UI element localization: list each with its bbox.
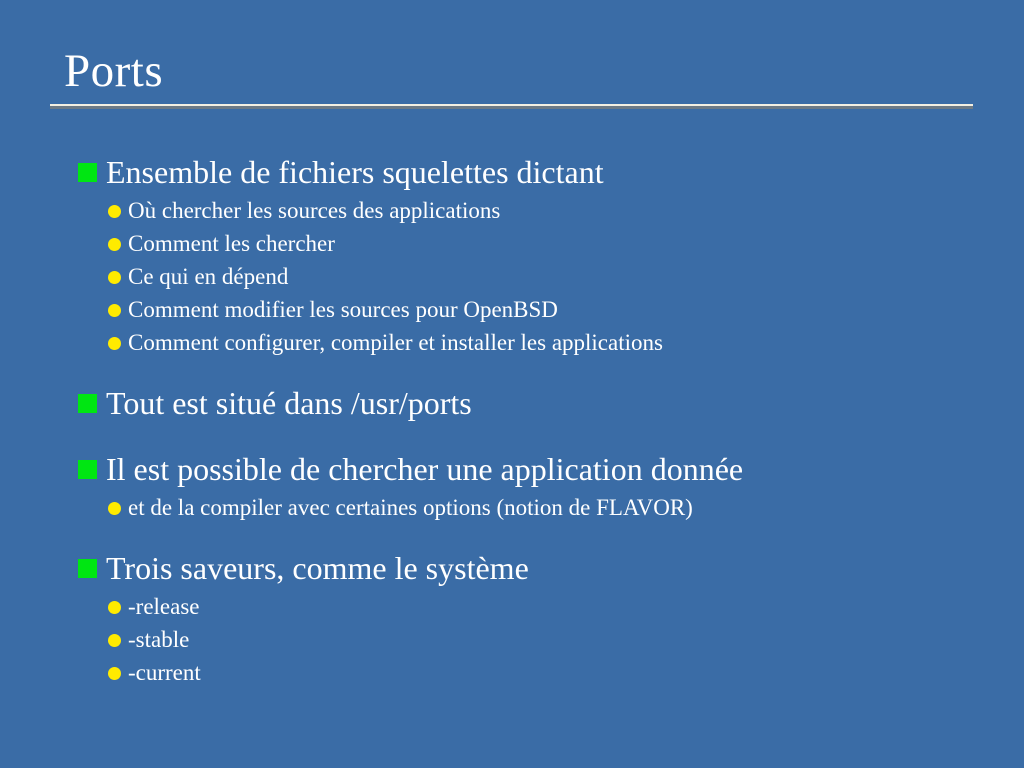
bullet-level2-label: Comment modifier les sources pour OpenBS… [128, 293, 558, 326]
dot-bullet-icon [108, 337, 121, 350]
dot-bullet-icon [108, 502, 121, 515]
dot-bullet-icon [108, 634, 121, 647]
presentation-slide: Ports Ensemble de fichiers squelettes di… [0, 0, 1024, 768]
bullet-level2-label: -release [128, 590, 200, 623]
bullet-level1-label: Tout est situé dans /usr/ports [106, 381, 472, 425]
bullet-group: Trois saveurs, comme le système-release-… [0, 546, 1024, 689]
bullet-group: Tout est situé dans /usr/ports [0, 381, 1024, 425]
bullet-group: Il est possible de chercher une applicat… [0, 447, 1024, 524]
bullet-item-level2[interactable]: Comment configurer, compiler et installe… [0, 326, 1024, 359]
title-divider-shadow [50, 106, 973, 109]
title-divider [50, 104, 973, 109]
bullet-item-level2[interactable]: -current [0, 656, 1024, 689]
bullet-level2-label: Ce qui en dépend [128, 260, 288, 293]
bullet-level1-label: Trois saveurs, comme le système [106, 546, 529, 590]
bullet-item-level2[interactable]: -stable [0, 623, 1024, 656]
bullet-item-level1[interactable]: Il est possible de chercher une applicat… [0, 447, 1024, 491]
bullet-level2-label: Où chercher les sources des applications [128, 194, 500, 227]
dot-bullet-icon [108, 205, 121, 218]
bullet-level1-label: Il est possible de chercher une applicat… [106, 447, 743, 491]
bullet-sublist: et de la compiler avec certaines options… [0, 491, 1024, 524]
bullet-level2-label: -current [128, 656, 201, 689]
square-bullet-icon [78, 559, 97, 578]
bullet-item-level2[interactable]: -release [0, 590, 1024, 623]
dot-bullet-icon [108, 304, 121, 317]
bullet-level2-label: Comment les chercher [128, 227, 335, 260]
bullet-sublist: Où chercher les sources des applications… [0, 194, 1024, 359]
dot-bullet-icon [108, 601, 121, 614]
square-bullet-icon [78, 394, 97, 413]
bullet-level2-label: -stable [128, 623, 189, 656]
slide-canvas: Ports Ensemble de fichiers squelettes di… [0, 0, 1024, 768]
square-bullet-icon [78, 163, 97, 182]
dot-bullet-icon [108, 271, 121, 284]
bullet-item-level2[interactable]: Comment les chercher [0, 227, 1024, 260]
slide-body: Ensemble de fichiers squelettes dictantO… [0, 150, 1024, 689]
bullet-sublist: -release-stable-current [0, 590, 1024, 689]
bullet-level1-label: Ensemble de fichiers squelettes dictant [106, 150, 604, 194]
dot-bullet-icon [108, 238, 121, 251]
bullet-item-level1[interactable]: Tout est situé dans /usr/ports [0, 381, 1024, 425]
bullet-level2-label: Comment configurer, compiler et installe… [128, 326, 663, 359]
bullet-item-level2[interactable]: Ce qui en dépend [0, 260, 1024, 293]
bullet-group: Ensemble de fichiers squelettes dictantO… [0, 150, 1024, 359]
bullet-level2-label: et de la compiler avec certaines options… [128, 491, 693, 524]
bullet-item-level2[interactable]: et de la compiler avec certaines options… [0, 491, 1024, 524]
bullet-item-level1[interactable]: Trois saveurs, comme le système [0, 546, 1024, 590]
page-title: Ports [50, 48, 974, 95]
bullet-item-level2[interactable]: Où chercher les sources des applications [0, 194, 1024, 227]
slide-title-block: Ports [50, 48, 974, 109]
bullet-item-level1[interactable]: Ensemble de fichiers squelettes dictant [0, 150, 1024, 194]
bullet-item-level2[interactable]: Comment modifier les sources pour OpenBS… [0, 293, 1024, 326]
dot-bullet-icon [108, 667, 121, 680]
square-bullet-icon [78, 460, 97, 479]
